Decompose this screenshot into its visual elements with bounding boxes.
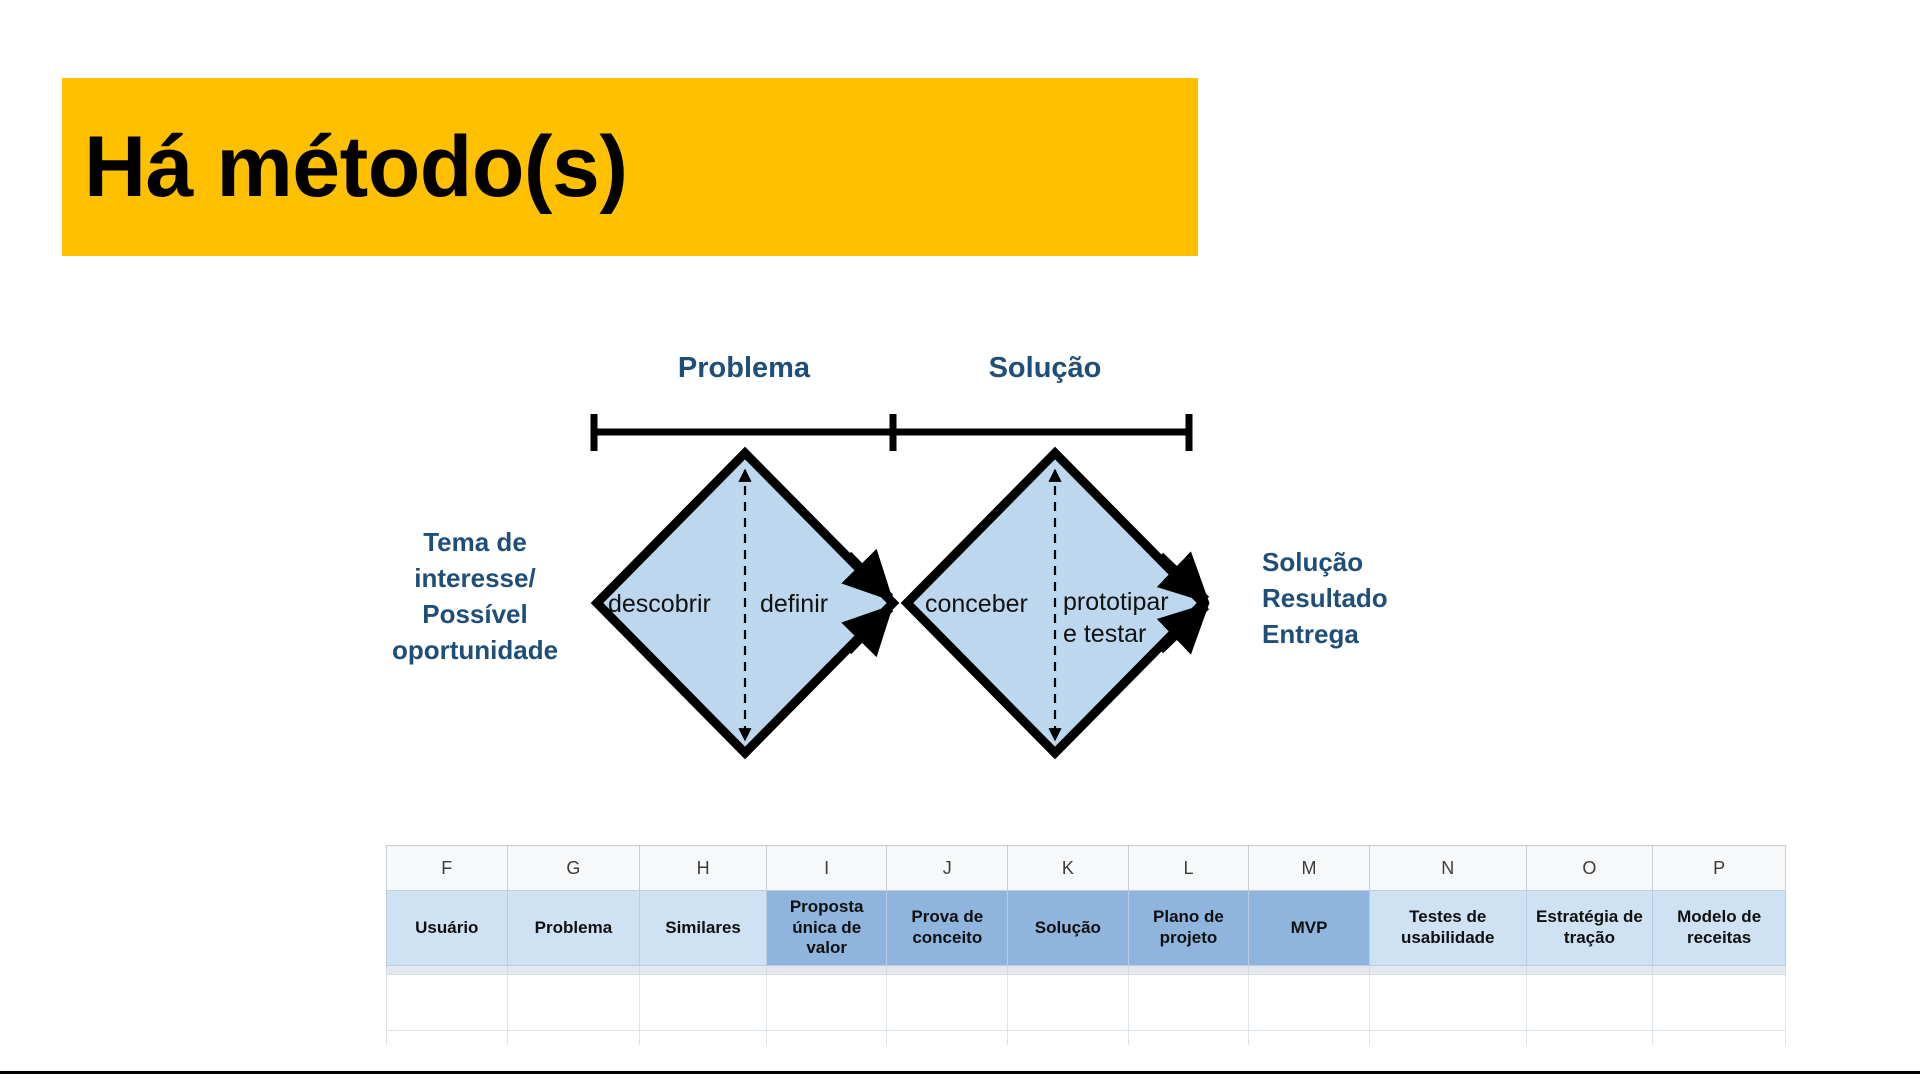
data-cell-partial-n[interactable] (1369, 1031, 1526, 1045)
row-separator-cell (640, 966, 767, 975)
column-letter-j[interactable]: J (887, 846, 1008, 891)
data-cell-partial-i[interactable] (766, 1031, 887, 1045)
column-letter-m[interactable]: M (1249, 846, 1370, 891)
bottom-divider (0, 1071, 1920, 1074)
column-letter-g[interactable]: G (507, 846, 640, 891)
data-cell-partial-g[interactable] (507, 1031, 640, 1045)
header-cell-f[interactable]: Usuário (387, 891, 508, 966)
data-cell-n[interactable] (1369, 975, 1526, 1031)
row-separator (387, 966, 1786, 975)
row-separator-cell (1369, 966, 1526, 975)
header-cell-m[interactable]: MVP (1249, 891, 1370, 966)
row-separator-cell (1526, 966, 1653, 975)
column-letter-p[interactable]: P (1653, 846, 1786, 891)
column-letter-row: FGHIJKLMNOP (387, 846, 1786, 891)
row-separator-cell (1008, 966, 1129, 975)
data-cell-g[interactable] (507, 975, 640, 1031)
row-separator-cell (1653, 966, 1786, 975)
header-cell-j[interactable]: Prova de conceito (887, 891, 1008, 966)
data-cell-partial-f[interactable] (387, 1031, 508, 1045)
row-separator-cell (887, 966, 1008, 975)
page-title: Há método(s) (62, 124, 627, 210)
data-cell-partial-j[interactable] (887, 1031, 1008, 1045)
phase-bracket (592, 414, 1192, 451)
table-row[interactable] (387, 975, 1786, 1031)
data-cell-k[interactable] (1008, 975, 1129, 1031)
column-letter-o[interactable]: O (1526, 846, 1653, 891)
phase-label-solucao: Solução (965, 352, 1125, 385)
row-separator-cell (387, 966, 508, 975)
header-cell-i[interactable]: Proposta única de valor (766, 891, 887, 966)
table-row[interactable] (387, 1031, 1786, 1045)
column-letter-k[interactable]: K (1008, 846, 1129, 891)
input-text-block: Tema de interesse/ Possível oportunidade (330, 525, 620, 669)
header-cell-h[interactable]: Similares (640, 891, 767, 966)
data-cell-p[interactable] (1653, 975, 1786, 1031)
diamond-label-definir: definir (760, 588, 870, 620)
header-cell-p[interactable]: Modelo de receitas (1653, 891, 1786, 966)
diamond-label-conceber: conceber (925, 588, 1045, 620)
row-separator-cell (766, 966, 887, 975)
column-letter-i[interactable]: I (766, 846, 887, 891)
data-cell-f[interactable] (387, 975, 508, 1031)
header-cell-n[interactable]: Testes de usabilidade (1369, 891, 1526, 966)
phase-label-problema: Problema (664, 352, 824, 385)
data-cell-h[interactable] (640, 975, 767, 1031)
diamond-label-prototipar-e-testar: prototipar e testar (1063, 586, 1193, 650)
diamond-label-descobrir: descobrir (608, 588, 728, 620)
header-cell-o[interactable]: Estratégia de tração (1526, 891, 1653, 966)
header-cell-k[interactable]: Solução (1008, 891, 1129, 966)
data-cell-j[interactable] (887, 975, 1008, 1031)
data-cell-partial-m[interactable] (1249, 1031, 1370, 1045)
data-cell-m[interactable] (1249, 975, 1370, 1031)
header-cell-g[interactable]: Problema (507, 891, 640, 966)
column-letter-f[interactable]: F (387, 846, 508, 891)
row-separator-cell (507, 966, 640, 975)
data-cell-partial-o[interactable] (1526, 1031, 1653, 1045)
data-cell-l[interactable] (1128, 975, 1249, 1031)
column-letter-n[interactable]: N (1369, 846, 1526, 891)
data-cell-partial-k[interactable] (1008, 1031, 1129, 1045)
slide-canvas: Há método(s) (0, 0, 1920, 1080)
row-separator-cell (1128, 966, 1249, 975)
spreadsheet-table[interactable]: FGHIJKLMNOP UsuárioProblemaSimilaresProp… (386, 845, 1786, 1045)
table-row: UsuárioProblemaSimilaresProposta única d… (387, 891, 1786, 966)
row-separator-cell (1249, 966, 1370, 975)
title-banner: Há método(s) (62, 78, 1198, 256)
data-cell-partial-l[interactable] (1128, 1031, 1249, 1045)
column-letter-h[interactable]: H (640, 846, 767, 891)
data-cell-o[interactable] (1526, 975, 1653, 1031)
header-cell-l[interactable]: Plano de projeto (1128, 891, 1249, 966)
column-letter-l[interactable]: L (1128, 846, 1249, 891)
data-cell-partial-p[interactable] (1653, 1031, 1786, 1045)
output-text-block: Solução Resultado Entrega (1262, 545, 1502, 653)
data-cell-i[interactable] (766, 975, 887, 1031)
data-cell-partial-h[interactable] (640, 1031, 767, 1045)
